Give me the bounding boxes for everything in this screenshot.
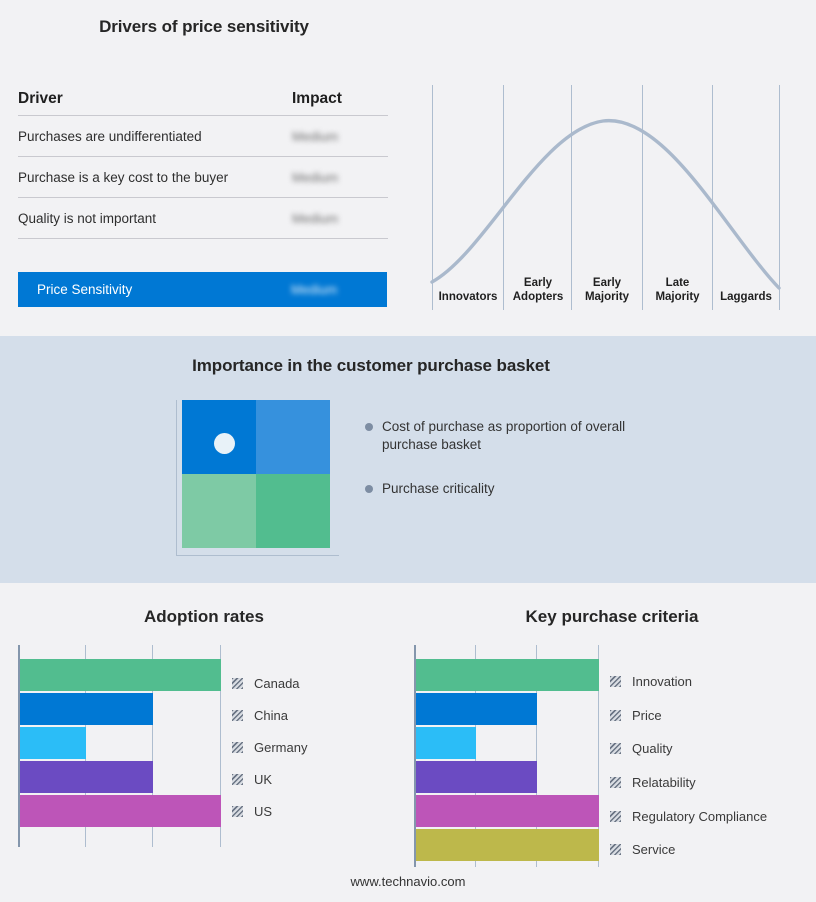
hatch-swatch-icon	[232, 710, 243, 721]
lifecycle-label-innovators: Innovators	[432, 291, 504, 305]
hatch-swatch-icon	[610, 676, 621, 687]
quadrant-top-right	[256, 400, 330, 474]
bar-uk	[20, 761, 153, 793]
legend-item-us: US	[232, 795, 307, 827]
legend-item-china: China	[232, 699, 307, 731]
hatch-swatch-icon	[232, 806, 243, 817]
hatch-swatch-icon	[610, 743, 621, 754]
quadrant-grid	[182, 400, 330, 548]
quadrant-bottom-right	[256, 474, 330, 548]
importance-quadrant-chart	[176, 400, 340, 560]
legend-label: Cost of purchase as proportion of overal…	[382, 418, 634, 454]
bar-china	[20, 693, 153, 725]
bell-curve-path	[432, 121, 779, 288]
hatch-swatch-icon	[610, 710, 621, 721]
importance-legend: Cost of purchase as proportion of overal…	[365, 418, 665, 516]
quadrant-marker-dot	[214, 433, 235, 454]
legend-item-canada: Canada	[232, 667, 307, 699]
importance-title: Importance in the customer purchase bask…	[0, 356, 742, 376]
bar-quality	[416, 727, 476, 759]
lifecycle-label-laggards: Laggards	[713, 291, 779, 305]
key-purchase-criteria-title-wrap: Key purchase criteria	[408, 607, 816, 627]
bar-regulatory-compliance	[416, 795, 599, 827]
hatch-swatch-icon	[232, 774, 243, 785]
legend-label: Purchase criticality	[382, 480, 495, 498]
legend-item-innovation: Innovation	[610, 665, 767, 699]
infographic-page: Drivers of price sensitivity Driver Impa…	[0, 0, 816, 902]
bar-canada	[20, 659, 221, 691]
lifecycle-label-early-majority: Early Majority	[572, 277, 642, 304]
legend-item-uk: UK	[232, 763, 307, 795]
adoption-rates-plot	[18, 645, 222, 847]
bullet-icon	[365, 423, 373, 431]
legend-item-germany: Germany	[232, 731, 307, 763]
hatch-swatch-icon	[232, 742, 243, 753]
key-purchase-criteria-legend: Innovation Price Quality Relatability Re…	[610, 665, 767, 867]
legend-item-regulatory-compliance: Regulatory Compliance	[610, 799, 767, 833]
hatch-swatch-icon	[610, 811, 621, 822]
quadrant-bottom-left	[182, 474, 256, 548]
quadrant-y-axis	[176, 400, 177, 556]
legend-item: Cost of purchase as proportion of overal…	[365, 418, 665, 454]
key-purchase-criteria-title: Key purchase criteria	[408, 607, 816, 627]
legend-item-price: Price	[610, 699, 767, 733]
hatch-swatch-icon	[610, 844, 621, 855]
bar-germany	[20, 727, 86, 759]
key-purchase-criteria-panel: Key purchase criteria Innovation Price	[408, 583, 816, 902]
legend-item-relatability: Relatability	[610, 766, 767, 800]
bar-innovation	[416, 659, 599, 691]
bar-us	[20, 795, 221, 827]
bullet-icon	[365, 485, 373, 493]
hatch-swatch-icon	[232, 678, 243, 689]
key-purchase-criteria-plot	[414, 645, 600, 867]
legend-item: Purchase criticality	[365, 480, 665, 498]
legend-item-service: Service	[610, 833, 767, 867]
hatch-swatch-icon	[610, 777, 621, 788]
bar-price	[416, 693, 537, 725]
adoption-rates-legend: Canada China Germany UK US	[232, 667, 307, 827]
adoption-rates-panel: Adoption rates Canada China	[0, 583, 408, 902]
lifecycle-label-late-majority: Late Majority	[643, 277, 712, 304]
adoption-rates-title-wrap: Adoption rates	[0, 607, 408, 627]
lifecycle-label-early-adopters: Early Adopters	[504, 277, 572, 304]
quadrant-x-axis	[176, 555, 339, 556]
bar-relatability	[416, 761, 537, 793]
legend-item-quality: Quality	[610, 732, 767, 766]
footer-url: www.technavio.com	[0, 874, 816, 889]
adoption-rates-title: Adoption rates	[0, 607, 408, 627]
bar-service	[416, 829, 599, 861]
